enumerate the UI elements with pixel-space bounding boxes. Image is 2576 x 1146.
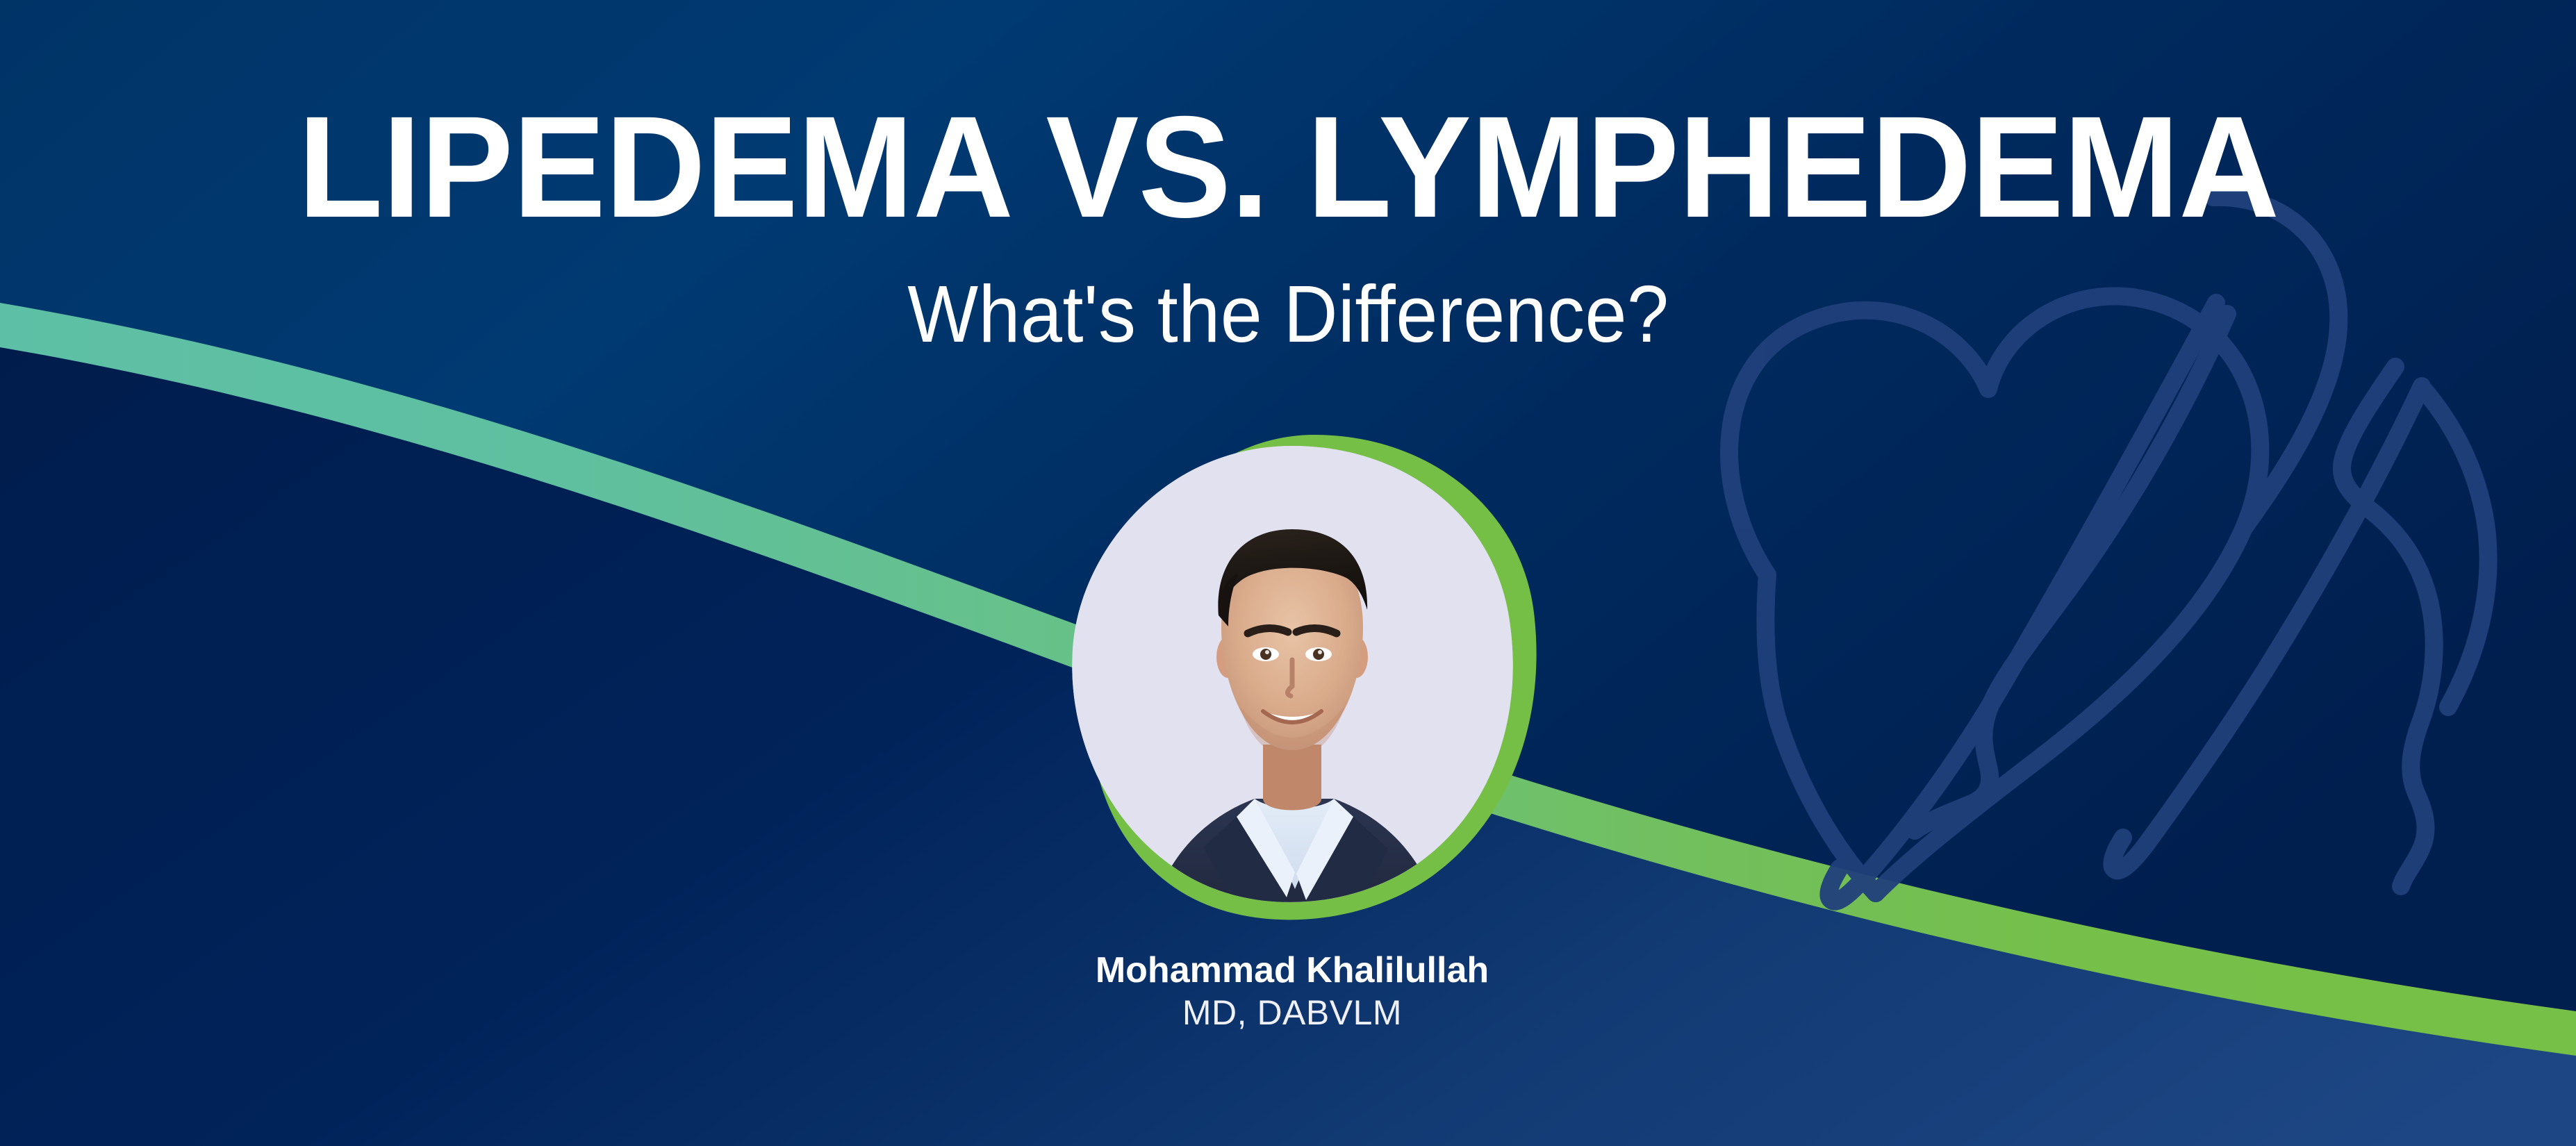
webinar-title-banner: LIPEDEMA VS. LYMPHEDEMA What's the Diffe… xyxy=(0,0,2576,1146)
portrait-graphics xyxy=(1042,431,1542,945)
speaker-identity: Mohammad Khalilullah MD, DABVLM xyxy=(799,950,1785,1033)
speaker-credentials: MD, DABVLM xyxy=(799,993,1785,1033)
page-subtitle: What's the Difference? xyxy=(907,272,1669,357)
speaker-portrait xyxy=(1042,431,1542,945)
banner-subtitle-row: What's the Difference? xyxy=(0,272,2576,357)
page-title: LIPEDEMA VS. LYMPHEDEMA xyxy=(297,101,2278,234)
speaker-name: Mohammad Khalilullah xyxy=(799,950,1785,990)
banner-title-row: LIPEDEMA VS. LYMPHEDEMA xyxy=(0,101,2576,234)
